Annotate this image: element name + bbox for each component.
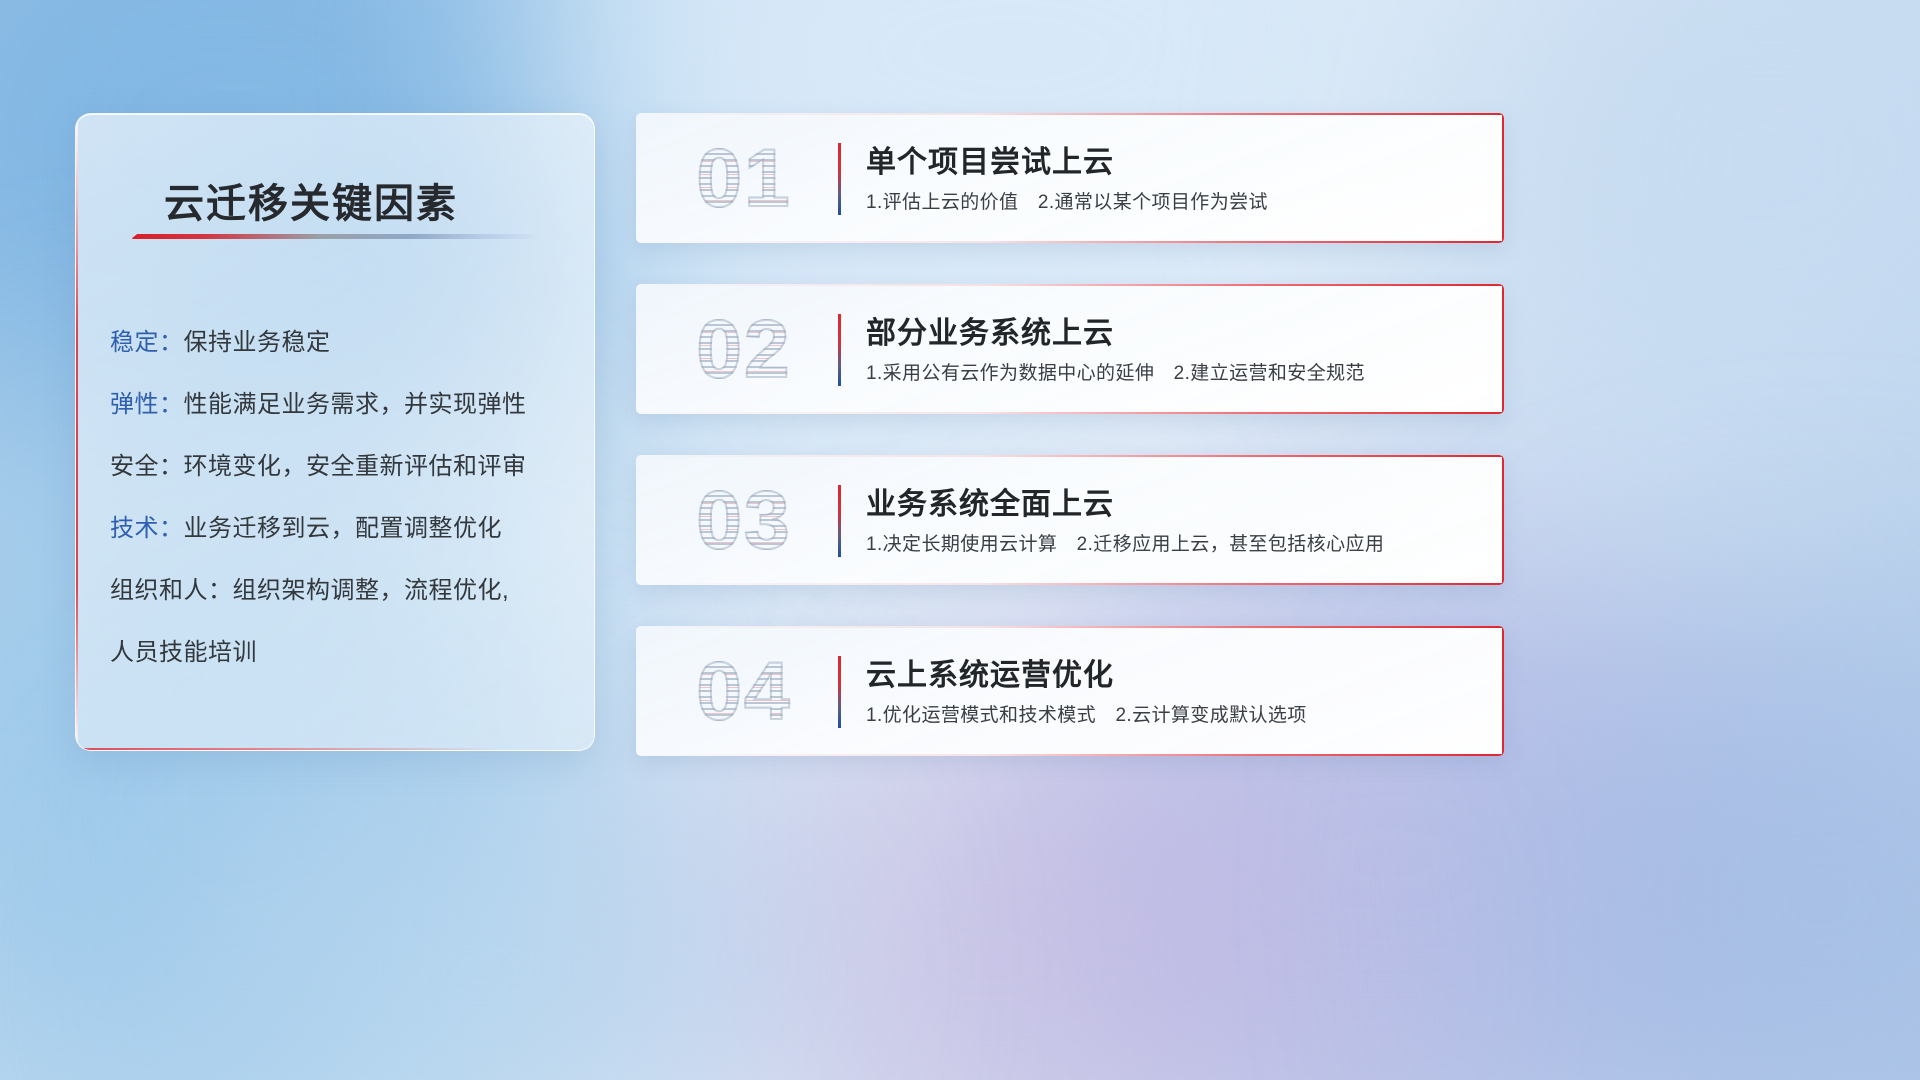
step-title: 业务系统全面上云 [866, 479, 1114, 523]
key-factor-value: 人员技能培训 [110, 639, 257, 666]
key-factor-value: 组织架构调整，流程优化, [233, 577, 510, 604]
key-factor-label: 弹性： [110, 391, 184, 418]
card-divider-bar [838, 656, 841, 728]
step-title: 云上系统运营优化 [866, 650, 1114, 694]
key-factors-panel: 云迁移关键因素 稳定：保持业务稳定弹性：性能满足业务需求，并实现弹性安全：环境变… [75, 113, 595, 751]
card-right-accent-edge [1502, 455, 1504, 585]
key-factors-list: 稳定：保持业务稳定弹性：性能满足业务需求，并实现弹性安全：环境变化，安全重新评估… [76, 312, 594, 684]
title-underline-rule [131, 234, 541, 239]
step-subtitle: 1.采用公有云作为数据中心的延伸 2.建立运营和安全规范 [866, 358, 1365, 385]
key-factor-label: 组织和人： [110, 577, 233, 604]
step-subtitle: 1.优化运营模式和技术模式 2.云计算变成默认选项 [866, 700, 1307, 727]
key-factor-label: 安全： [110, 453, 184, 480]
card-divider-bar [838, 485, 841, 557]
step-number-tint-overlay: 02 [664, 302, 824, 398]
card-right-accent-edge [1502, 626, 1504, 756]
migration-step-card[interactable]: 0202部分业务系统上云1.采用公有云作为数据中心的延伸 2.建立运营和安全规范 [636, 284, 1504, 414]
key-factor-item: 组织和人：组织架构调整，流程优化, [76, 560, 594, 622]
card-right-accent-edge [1502, 113, 1504, 243]
key-factor-label: 稳定： [110, 329, 184, 356]
card-divider-bar [838, 314, 841, 386]
key-factor-value: 性能满足业务需求，并实现弹性 [184, 391, 527, 418]
step-number-tint-overlay: 04 [664, 644, 824, 740]
panel-title: 云迁移关键因素 [164, 171, 458, 229]
key-factor-value: 保持业务稳定 [184, 329, 331, 356]
key-factor-item: 稳定：保持业务稳定 [76, 312, 594, 374]
migration-step-card[interactable]: 0303业务系统全面上云1.决定长期使用云计算 2.迁移应用上云，甚至包括核心应… [636, 455, 1504, 585]
key-factor-item: 弹性：性能满足业务需求，并实现弹性 [76, 374, 594, 436]
step-subtitle: 1.评估上云的价值 2.通常以某个项目作为尝试 [866, 187, 1268, 214]
card-divider-bar [838, 143, 841, 215]
key-factor-item: 安全：环境变化，安全重新评估和评审 [76, 436, 594, 498]
migration-steps-list: 0101单个项目尝试上云1.评估上云的价值 2.通常以某个项目作为尝试0202部… [636, 113, 1504, 797]
step-number-tint-overlay: 01 [664, 131, 824, 227]
key-factor-value: 环境变化，安全重新评估和评审 [184, 453, 527, 480]
key-factor-value: 业务迁移到云，配置调整优化 [184, 515, 503, 542]
step-number-tint-overlay: 03 [664, 473, 824, 569]
step-title: 单个项目尝试上云 [866, 137, 1114, 181]
step-title: 部分业务系统上云 [866, 308, 1114, 352]
migration-step-card[interactable]: 0101单个项目尝试上云1.评估上云的价值 2.通常以某个项目作为尝试 [636, 113, 1504, 243]
card-right-accent-edge [1502, 284, 1504, 414]
migration-step-card[interactable]: 0404云上系统运营优化1.优化运营模式和技术模式 2.云计算变成默认选项 [636, 626, 1504, 756]
step-subtitle: 1.决定长期使用云计算 2.迁移应用上云，甚至包括核心应用 [866, 529, 1384, 556]
key-factor-label: 技术： [110, 515, 184, 542]
key-factor-item: 人员技能培训 [76, 622, 594, 684]
key-factor-item: 技术：业务迁移到云，配置调整优化 [76, 498, 594, 560]
